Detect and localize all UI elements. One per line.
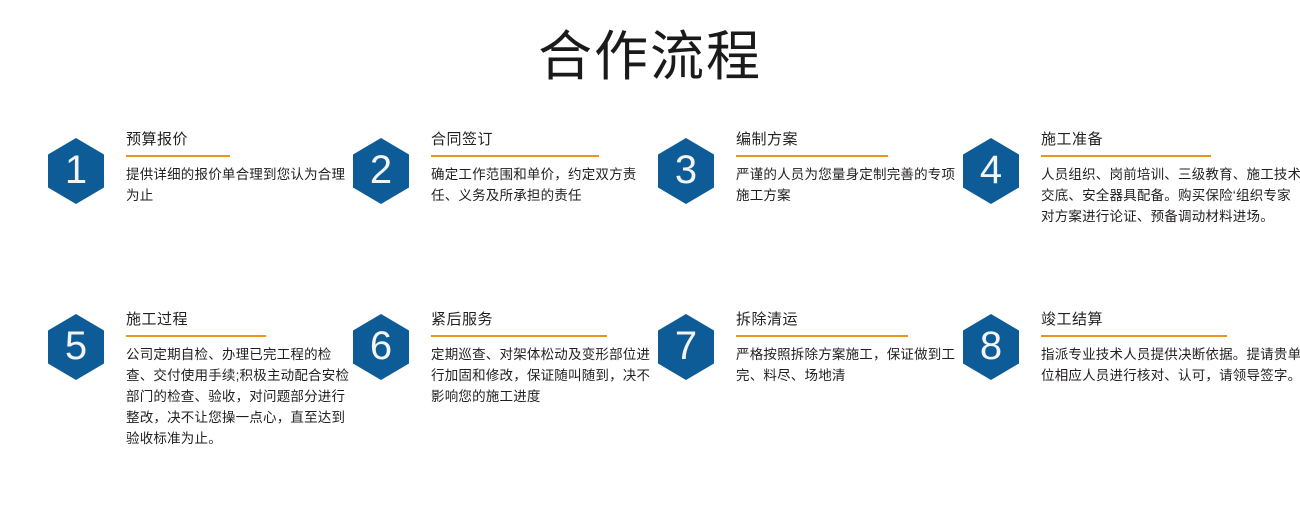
- step-description: 公司定期自检、办理已完工程的检查、交付使用手续;积极主动配合安检部门的检查、验收…: [126, 344, 353, 449]
- step-title: 竣工结算: [1041, 310, 1300, 330]
- step-number: 7: [658, 314, 714, 380]
- step-title: 施工准备: [1041, 130, 1300, 150]
- step-item-2[interactable]: 2 合同签订 确定工作范围和单价，约定双方责任、义务及所承担的责任: [353, 128, 658, 308]
- hexagon-badge-icon: 7: [658, 314, 714, 380]
- step-body: 施工准备 人员组织、岗前培训、三级教育、施工技术交底、安全器具配备。购买保险‘组…: [1041, 128, 1300, 227]
- title-underline: [736, 155, 888, 157]
- step-title: 预算报价: [126, 130, 353, 150]
- hexagon-badge-icon: 5: [48, 314, 104, 380]
- step-title: 编制方案: [736, 130, 963, 150]
- page-title: 合作流程: [0, 26, 1300, 88]
- step-body: 拆除清运 严格按照拆除方案施工，保证做到工完、料尽、场地清: [736, 308, 963, 386]
- step-description: 严格按照拆除方案施工，保证做到工完、料尽、场地清: [736, 344, 963, 386]
- step-item-3[interactable]: 3 编制方案 严谨的人员为您量身定制完善的专项施工方案: [658, 128, 963, 308]
- cooperation-process-infographic: 合作流程 1 预算报价 提供详细的报价单合理到您认为合理为止 2: [0, 0, 1300, 532]
- step-title: 施工过程: [126, 310, 353, 330]
- step-body: 合同签订 确定工作范围和单价，约定双方责任、义务及所承担的责任: [431, 128, 658, 206]
- step-item-8[interactable]: 8 竣工结算 指派专业技术人员提供决断依据。提请贵单位相应人员进行核对、认可，请…: [963, 308, 1300, 449]
- step-title: 紧后服务: [431, 310, 658, 330]
- step-body: 编制方案 严谨的人员为您量身定制完善的专项施工方案: [736, 128, 963, 206]
- step-number: 2: [353, 138, 409, 204]
- step-number: 4: [963, 138, 1019, 204]
- step-body: 竣工结算 指派专业技术人员提供决断依据。提请贵单位相应人员进行核对、认可，请领导…: [1041, 308, 1300, 386]
- step-item-4[interactable]: 4 施工准备 人员组织、岗前培训、三级教育、施工技术交底、安全器具配备。购买保险…: [963, 128, 1300, 308]
- step-number: 5: [48, 314, 104, 380]
- steps-grid: 1 预算报价 提供详细的报价单合理到您认为合理为止 2 合同签订 确定工作范围和…: [0, 128, 1300, 449]
- hexagon-badge-icon: 2: [353, 138, 409, 204]
- title-underline: [431, 335, 607, 337]
- step-item-1[interactable]: 1 预算报价 提供详细的报价单合理到您认为合理为止: [48, 128, 353, 308]
- hexagon-badge-icon: 4: [963, 138, 1019, 204]
- step-title: 合同签订: [431, 130, 658, 150]
- step-description: 确定工作范围和单价，约定双方责任、义务及所承担的责任: [431, 164, 658, 206]
- title-underline: [126, 155, 230, 157]
- step-description: 严谨的人员为您量身定制完善的专项施工方案: [736, 164, 963, 206]
- step-title: 拆除清运: [736, 310, 963, 330]
- step-description: 人员组织、岗前培训、三级教育、施工技术交底、安全器具配备。购买保险‘组织专家对方…: [1041, 164, 1300, 227]
- title-underline: [126, 335, 266, 337]
- step-number: 8: [963, 314, 1019, 380]
- step-item-7[interactable]: 7 拆除清运 严格按照拆除方案施工，保证做到工完、料尽、场地清: [658, 308, 963, 449]
- step-body: 预算报价 提供详细的报价单合理到您认为合理为止: [126, 128, 353, 206]
- step-number: 6: [353, 314, 409, 380]
- step-description: 定期巡查、对架体松动及变形部位进行加固和修改，保证随叫随到，决不影响您的施工进度: [431, 344, 658, 407]
- hexagon-badge-icon: 3: [658, 138, 714, 204]
- step-body: 紧后服务 定期巡查、对架体松动及变形部位进行加固和修改，保证随叫随到，决不影响您…: [431, 308, 658, 407]
- step-number: 1: [48, 138, 104, 204]
- step-item-5[interactable]: 5 施工过程 公司定期自检、办理已完工程的检查、交付使用手续;积极主动配合安检部…: [48, 308, 353, 449]
- step-description: 提供详细的报价单合理到您认为合理为止: [126, 164, 353, 206]
- title-underline: [1041, 335, 1227, 337]
- title-underline: [1041, 155, 1211, 157]
- step-description: 指派专业技术人员提供决断依据。提请贵单位相应人员进行核对、认可，请领导签字。: [1041, 344, 1300, 386]
- hexagon-badge-icon: 6: [353, 314, 409, 380]
- step-body: 施工过程 公司定期自检、办理已完工程的检查、交付使用手续;积极主动配合安检部门的…: [126, 308, 353, 449]
- title-underline: [431, 155, 599, 157]
- hexagon-badge-icon: 8: [963, 314, 1019, 380]
- step-item-6[interactable]: 6 紧后服务 定期巡查、对架体松动及变形部位进行加固和修改，保证随叫随到，决不影…: [353, 308, 658, 449]
- hexagon-badge-icon: 1: [48, 138, 104, 204]
- step-number: 3: [658, 138, 714, 204]
- title-underline: [736, 335, 908, 337]
